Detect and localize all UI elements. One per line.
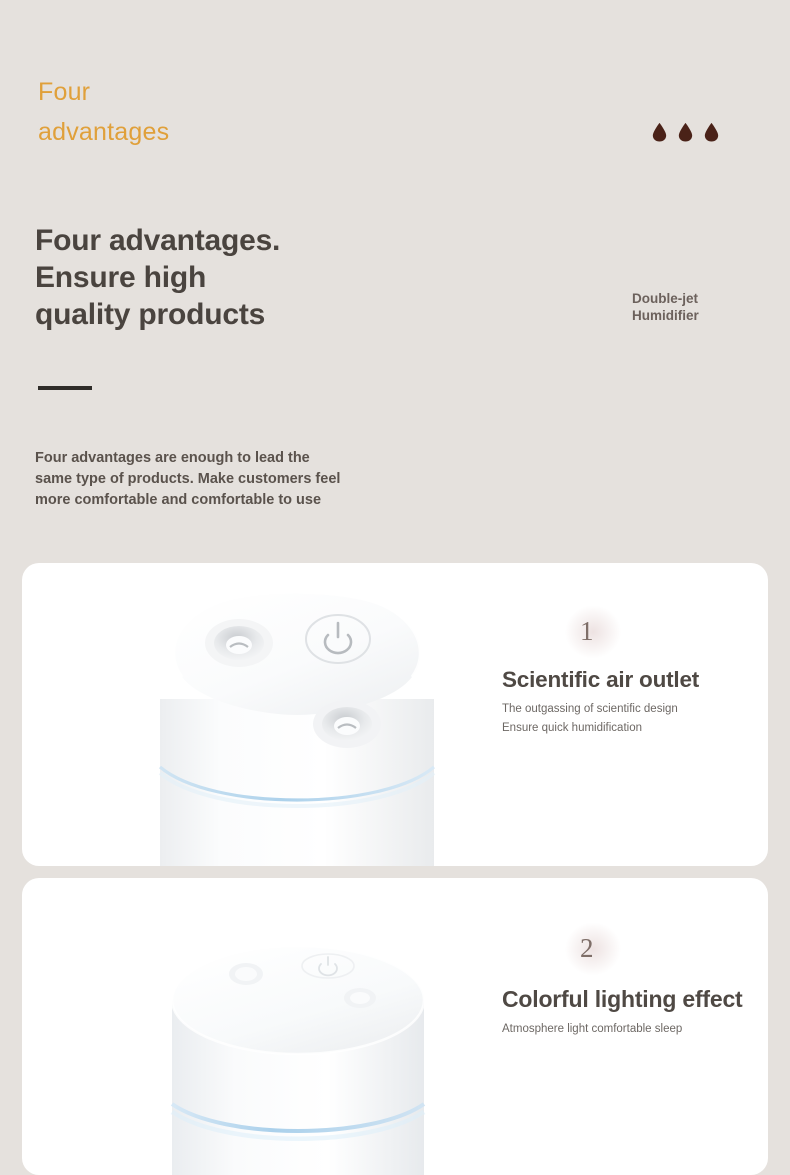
intro-line-2: same type of products. Make customers fe… xyxy=(35,469,435,490)
intro-line-1: Four advantages are enough to lead the xyxy=(35,448,435,469)
product-name-line-1: Double-jet xyxy=(632,290,699,307)
feature-title: Scientific air outlet xyxy=(502,667,699,693)
water-droplet-group xyxy=(651,122,720,142)
water-droplet-icon xyxy=(651,122,668,142)
headline-line-3: quality products xyxy=(35,296,280,333)
humidifier-top-closeup-image xyxy=(142,581,452,866)
water-droplet-icon xyxy=(677,122,694,142)
headline-line-2: Ensure high xyxy=(35,259,280,296)
feature-card[interactable]: 2 Colorful lighting effect Atmosphere li… xyxy=(22,878,768,1175)
feature-number: 2 xyxy=(580,933,594,963)
page-title: Four advantages. Ensure high quality pro… xyxy=(35,222,280,333)
eyebrow-line-1: Four xyxy=(38,78,90,106)
feature-description-line-1: The outgassing of scientific design xyxy=(502,702,698,717)
feature-description: The outgassing of scientific design Ensu… xyxy=(502,702,699,735)
feature-card-text: 1 Scientific air outlet The outgassing o… xyxy=(502,563,699,866)
eyebrow-line-2: advantages xyxy=(38,112,258,152)
intro-line-3: more comfortable and comfortable to use xyxy=(35,490,435,511)
feature-number: 1 xyxy=(580,616,594,646)
feature-card[interactable]: 1 Scientific air outlet The outgassing o… xyxy=(22,563,768,866)
feature-number-badge: 1 xyxy=(580,618,610,645)
feature-description-line-2: Ensure quick humidification xyxy=(502,721,698,736)
section-divider xyxy=(38,386,92,390)
eyebrow-heading: Four advantages xyxy=(38,72,258,152)
headline-line-1: Four advantages. xyxy=(35,222,280,259)
product-feature-page: Four advantages Four advantages. Ensure … xyxy=(0,0,790,1175)
feature-card-text: 2 Colorful lighting effect Atmosphere li… xyxy=(502,878,743,1175)
feature-number-badge: 2 xyxy=(580,935,610,962)
intro-paragraph: Four advantages are enough to lead the s… xyxy=(35,448,435,511)
feature-card-image xyxy=(22,563,492,866)
feature-description-line-1: Atmosphere light comfortable sleep xyxy=(502,1022,712,1037)
product-name-label: Double-jet Humidifier xyxy=(632,290,699,324)
feature-description: Atmosphere light comfortable sleep xyxy=(502,1022,743,1037)
humidifier-led-band-image xyxy=(150,926,446,1175)
product-name-line-2: Humidifier xyxy=(632,307,699,324)
feature-title: Colorful lighting effect xyxy=(502,986,743,1012)
water-droplet-icon xyxy=(703,122,720,142)
feature-card-image xyxy=(22,878,492,1175)
